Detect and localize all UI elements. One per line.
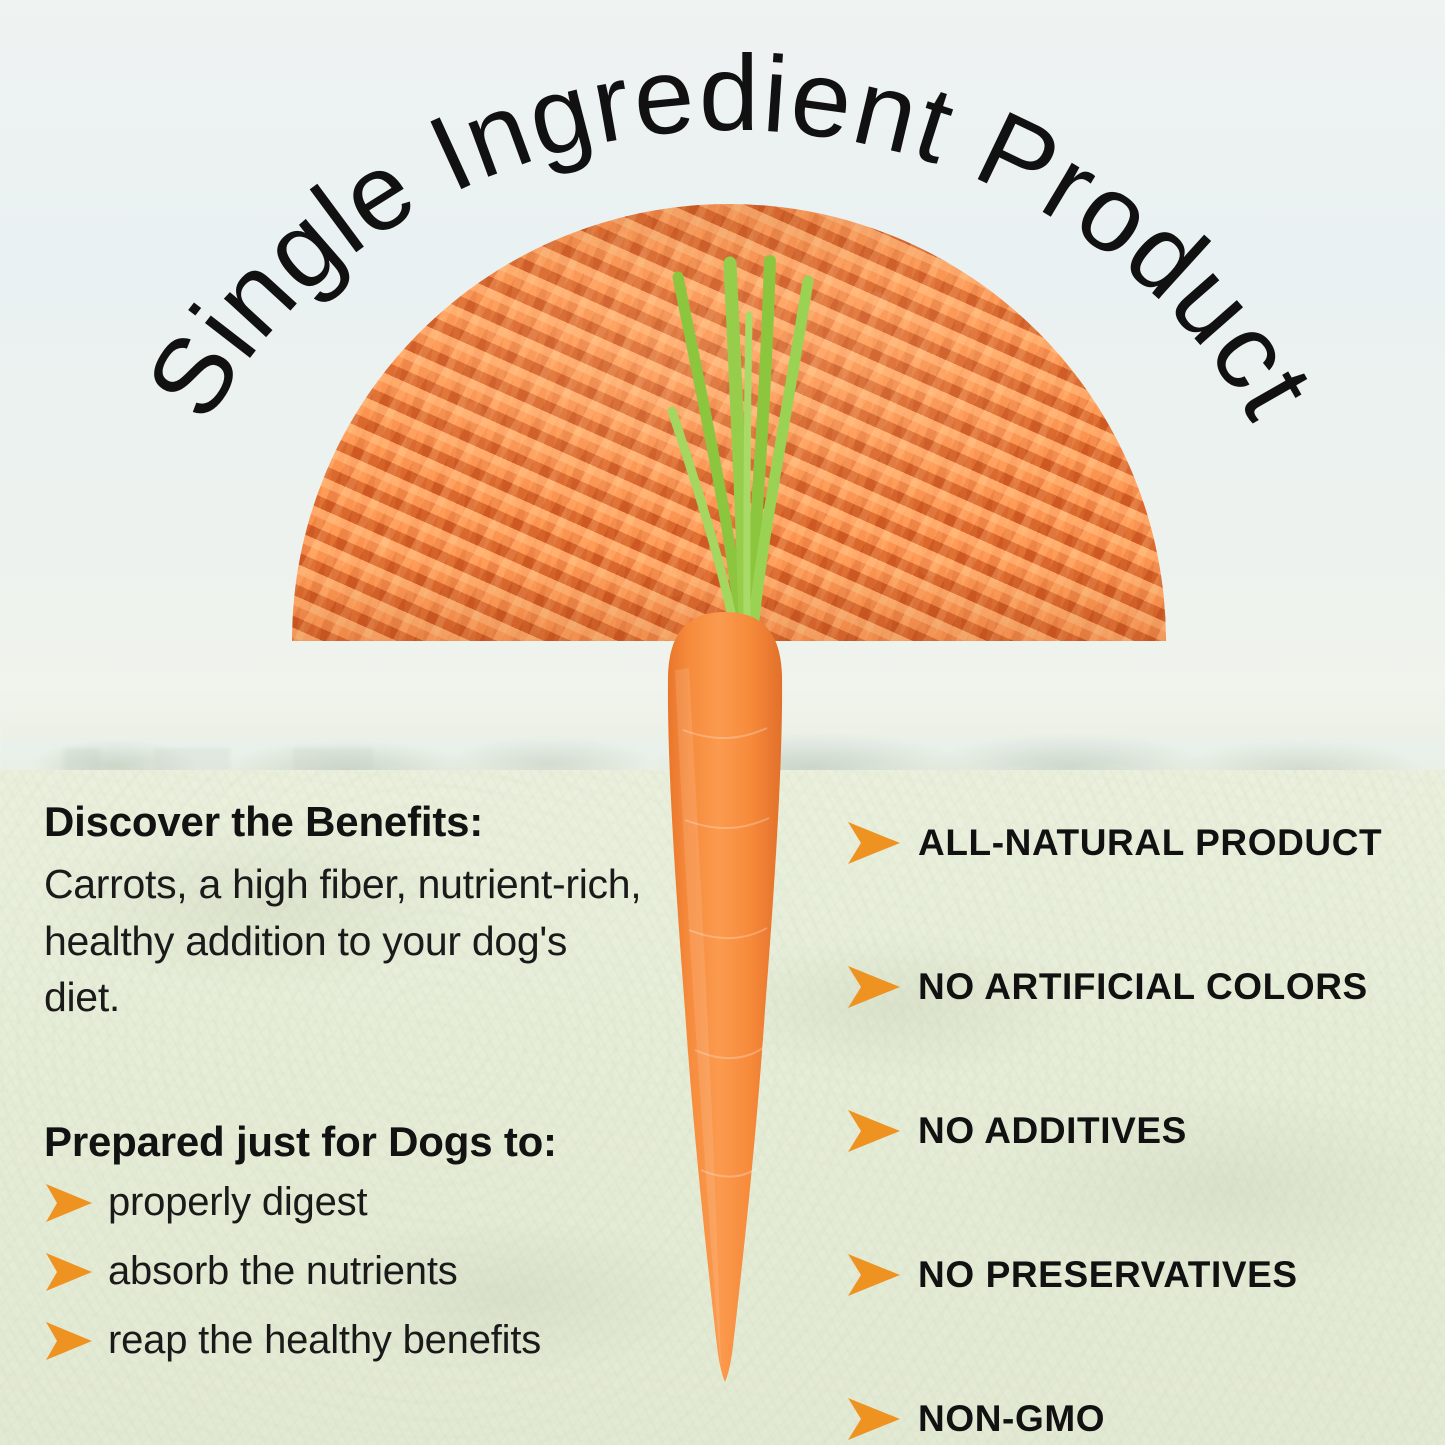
list-item: reap the healthy benefits [44,1318,684,1363]
claim-label: ALL-NATURAL PRODUCT [918,822,1382,864]
benefits-heading: Discover the Benefits: [44,798,654,846]
arrow-bullet-icon [846,1396,902,1442]
list-item: NON-GMO [846,1378,1426,1445]
arrow-bullet-icon [44,1182,94,1224]
claim-label: NON-GMO [918,1398,1105,1440]
product-infographic-poster: Single Ingredient Product [0,0,1445,1445]
arrow-bullet-icon [846,964,902,1010]
claims-list: ALL-NATURAL PRODUCT NO ARTIFICIAL COLORS… [846,802,1426,1445]
prepared-item-label: reap the healthy benefits [108,1318,541,1363]
benefits-block: Discover the Benefits: Carrots, a high f… [44,798,654,1026]
list-item: NO ADDITIVES [846,1090,1426,1172]
prepared-item-label: properly digest [108,1180,367,1225]
arrow-bullet-icon [846,1108,902,1154]
claims-block: ALL-NATURAL PRODUCT NO ARTIFICIAL COLORS… [846,802,1426,1445]
arrow-bullet-icon [44,1320,94,1362]
prepared-block: Prepared just for Dogs to: properly dige… [44,1118,684,1363]
arrow-bullet-icon [846,820,902,866]
prepared-item-label: absorb the nutrients [108,1249,458,1294]
list-item: NO ARTIFICIAL COLORS [846,946,1426,1028]
list-item: NO PRESERVATIVES [846,1234,1426,1316]
list-item: ALL-NATURAL PRODUCT [846,802,1426,884]
benefits-body: Carrots, a high fiber, nutrient-rich, he… [44,856,654,1026]
arrow-bullet-icon [44,1251,94,1293]
prepared-heading: Prepared just for Dogs to: [44,1118,684,1166]
prepared-list: properly digest absorb the nutrients rea… [44,1180,684,1363]
claim-label: NO PRESERVATIVES [918,1254,1298,1296]
claim-label: NO ARTIFICIAL COLORS [918,966,1368,1008]
arrow-bullet-icon [846,1252,902,1298]
list-item: properly digest [44,1180,684,1225]
claim-label: NO ADDITIVES [918,1110,1187,1152]
list-item: absorb the nutrients [44,1249,684,1294]
